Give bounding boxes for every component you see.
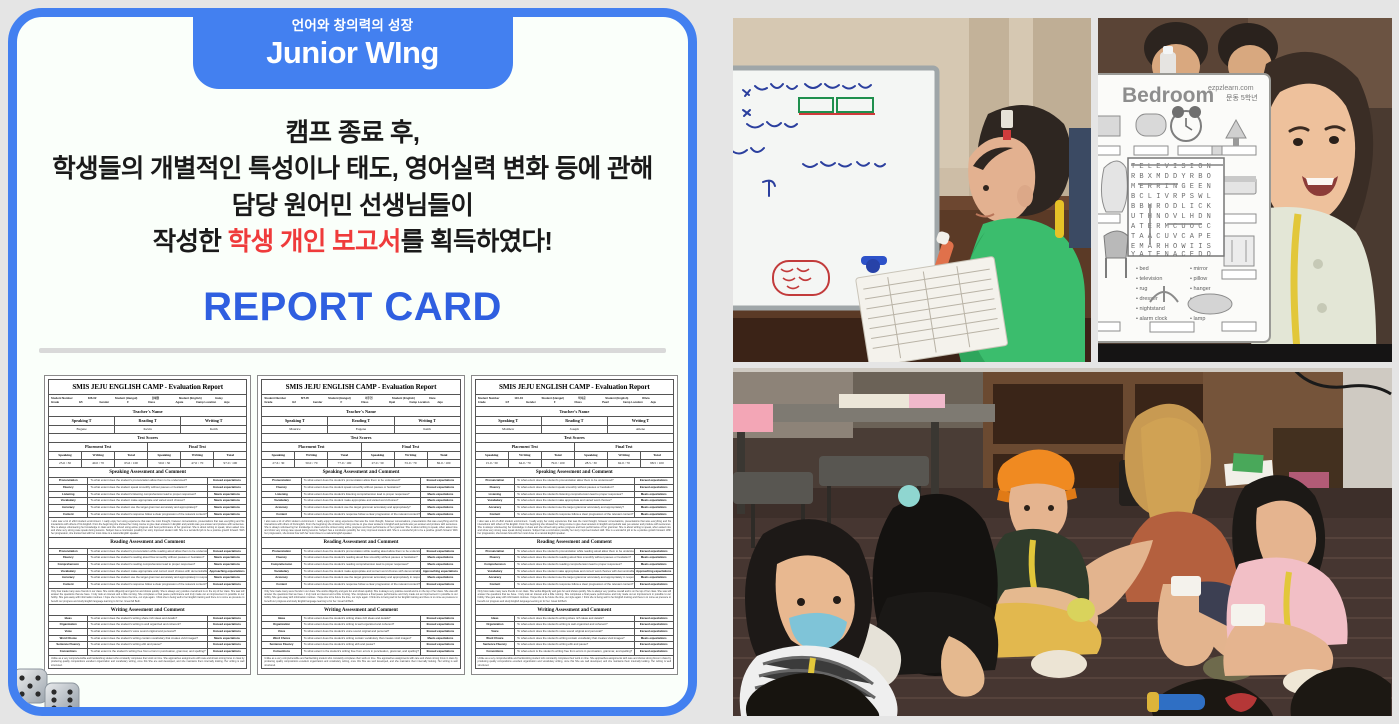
reading-assessment-question: To what extent does the student's readin… (302, 555, 420, 561)
speaking-assessment-row: PronunciationTo what extent does the stu… (261, 478, 460, 485)
score-header-cell: Speaking (575, 452, 608, 459)
score-value-cell: 55.0 / 70 (395, 460, 428, 467)
svg-text:U T H N O V L H D N: U T H N O V L H D N (1131, 213, 1211, 221)
score-header-cell: Writing (82, 452, 115, 459)
speaking-assessment-category: Listening (49, 492, 88, 498)
test-group-header-row: Placement TestFinal Test (261, 443, 460, 452)
speaking-assessment-category: Content (262, 512, 301, 518)
classroom-circle-photo (733, 368, 1392, 716)
writing-assessment-row: OrganizationTo what extent does the stud… (475, 622, 674, 629)
test-group-header-cell: Placement Test (49, 443, 148, 451)
writing-assessment-category: Word Choice (49, 636, 88, 642)
description-line-3: 담당 원어민 선생님들이 (17, 188, 688, 224)
teacher-header-cell: Reading T (115, 417, 181, 425)
score-header-cell: Total (641, 452, 673, 459)
svg-text:E M A R H O W I I S: E M A R H O W I I S (1131, 243, 1211, 251)
writing-assessment-question: To what extent does the student's writin… (515, 622, 633, 628)
speaking-assessment-result: Meets expectations (207, 512, 246, 518)
score-header-cell: Speaking (262, 452, 295, 459)
svg-text:• alarm clock: • alarm clock (1136, 316, 1168, 322)
speaking-assessment-question: To what extent does the student speak sm… (515, 485, 633, 491)
brand-banner: 언어와 창의력의 성장 Junior WIng (193, 8, 513, 89)
svg-text:• television: • television (1136, 276, 1162, 282)
teacher-header-cell: Reading T (328, 417, 394, 425)
speaking-assessment-category: Accuracy (262, 505, 301, 511)
speaking-assessment-question: To what extent does the student's listen… (515, 492, 633, 498)
reading-assessment-category: Comprehension (49, 562, 88, 568)
speaking-assessment-category: Vocabulary (476, 498, 515, 504)
writing-assessment-category: Voice (476, 629, 515, 635)
score-value-cell: 64.0 / 70 (509, 460, 542, 467)
teacher-value-row: MatthewJosephAilene (475, 426, 674, 434)
score-header-cell: Total (542, 452, 575, 459)
reading-assessment-question: To what extent does the student's respon… (515, 582, 633, 588)
speaking-assessment-question: To what extent does the student's listen… (88, 492, 206, 498)
svg-text:문동 5학년: 문동 5학년 (1226, 93, 1258, 102)
speaking-assessment-question: To what extent does the student's respon… (302, 512, 420, 518)
score-header-cell: Writing (395, 452, 428, 459)
teachers-name-band: Teacher's Name (261, 407, 460, 416)
speaking-assessment-question: To what extent does the student speak sm… (302, 485, 420, 491)
speaking-assessment-row: AccuracyTo what extent does the student … (475, 505, 674, 512)
speaking-assessment-question: To what extent does the student use the … (302, 505, 420, 511)
writing-assessment-question: To what extent does the student's writin… (515, 616, 633, 622)
writing-assessment-category: Ideas (49, 616, 88, 622)
speaking-assessment-result: Meets expectations (634, 512, 673, 518)
speaking-assessment-result: Meets expectations (420, 498, 459, 504)
score-value-cell: 98.5 / 100 (641, 460, 673, 467)
score-value-cell: 79.0 / 100 (542, 460, 575, 467)
reading-assessment-result: Exceed expectations (207, 582, 246, 588)
reading-assessment-row: ContentTo what extent does the student's… (475, 582, 674, 589)
speaking-assessment-category: Content (476, 512, 515, 518)
writing-assessment-row: OrganizationTo what extent does the stud… (48, 622, 247, 629)
writing-assessment-question: To what extent does the student's voice … (515, 629, 633, 635)
speaking-assessment-row: ContentTo what extent does the student's… (475, 512, 674, 519)
speaking-assessment-row: FluencyTo what extent does the student s… (261, 485, 460, 492)
teacher-value-row: MauriceEugeneKeith (261, 426, 460, 434)
speaking-assessment-result: Exceed expectations (634, 485, 673, 491)
speaking-assessment-question: To what extent does the student use the … (88, 505, 206, 511)
writing-assessment-result: Exceed expectations (207, 649, 246, 655)
score-header-cell: Writing (608, 452, 641, 459)
writing-assessment-question: To what extent is the student's writing … (302, 649, 420, 655)
speaking-assessment-question: To what extent does the student speak sm… (88, 485, 206, 491)
evaluation-report-sheet[interactable]: SMIS JEJU ENGLISH CAMP - Evaluation Repo… (44, 375, 251, 675)
reading-assessment-question: To what extent does the student make app… (302, 569, 420, 575)
reading-assessment-category: Fluency (49, 555, 88, 561)
test-scores-band: Test Scores (48, 434, 247, 443)
writing-assessment-question: To what extent does the student's writin… (302, 616, 420, 622)
speaking-assessment-row: ListeningTo what extent does the student… (48, 492, 247, 499)
writing-assessment-question: To what extent does the student's writin… (302, 642, 420, 648)
reading-assessment-row: ContentTo what extent does the student's… (48, 582, 247, 589)
speaking-assessment-category: Content (49, 512, 88, 518)
writing-assessment-category: Conventions (476, 649, 515, 655)
speaking-assessment-category: Accuracy (476, 505, 515, 511)
svg-text:• nightstand: • nightstand (1136, 306, 1165, 312)
writing-assessment-row: OrganizationTo what extent does the stud… (261, 622, 460, 629)
writing-assessment-row: ConventionsTo what extent is the student… (261, 649, 460, 656)
test-group-header-row: Placement TestFinal Test (475, 443, 674, 452)
speaking-assessment-band: Speaking Assessment and Comment (475, 468, 674, 478)
score-value-cell: 27.0 / 30 (362, 460, 395, 467)
writing-assessment-result: Exceed expectations (420, 616, 459, 622)
sheet-title: SMIS JEJU ENGLISH CAMP - Evaluation Repo… (48, 379, 247, 395)
speaking-assessment-result: Meets expectations (420, 512, 459, 518)
teacher-name-cell: Ailene (608, 426, 673, 433)
speaking-assessment-question: To what extent does the student make app… (302, 498, 420, 504)
speaking-assessment-result: Meets expectations (420, 492, 459, 498)
test-scores-band: Test Scores (475, 434, 674, 443)
writing-assessment-question: To what extent does the student's writin… (302, 622, 420, 628)
writing-assessment-band: Writing Assessment and Comment (261, 605, 460, 615)
sheet-title: SMIS JEJU ENGLISH CAMP - Evaluation Repo… (475, 379, 674, 395)
speaking-assessment-row: AccuracyTo what extent does the student … (261, 505, 460, 512)
svg-text:• lamp: • lamp (1190, 316, 1205, 322)
score-value-cell: 50.0 / 70 (295, 460, 328, 467)
writing-assessment-category: Conventions (49, 649, 88, 655)
reading-assessment-band: Reading Assessment and Comment (48, 538, 247, 548)
speaking-assessment-row: VocabularyTo what extent does the studen… (475, 498, 674, 505)
writing-assessment-result: Exceed expectations (634, 629, 673, 635)
teacher-name-cell: Maurice (262, 426, 328, 433)
reading-assessment-category: Vocabulary (49, 569, 88, 575)
speaking-assessment-result: Meets expectations (634, 498, 673, 504)
speaking-assessment-question: To what extent does the student's respon… (88, 512, 206, 518)
section-divider (39, 348, 666, 353)
writing-assessment-row: Word ChoiceTo what extent does the stude… (475, 636, 674, 643)
teacher-name-cell: Eugene (49, 426, 115, 433)
svg-text:Y A T E N A C E D O: Y A T E N A C E D O (1131, 251, 1211, 259)
page-title: REPORT CARD (17, 285, 688, 330)
reading-assessment-question: To what extent does the student's pronun… (88, 549, 206, 555)
writing-assessment-result: Exceed expectations (634, 649, 673, 655)
reading-assessment-question: To what extent does the student's readin… (302, 562, 420, 568)
whiteboard-lesson-photo (733, 18, 1091, 362)
reading-assessment-question: To what extent does the student's pronun… (515, 549, 633, 555)
score-header-cell: Total (214, 452, 246, 459)
speaking-assessment-result: Exceed expectations (634, 478, 673, 484)
reading-assessment-row: FluencyTo what extent does the student's… (475, 555, 674, 562)
writing-assessment-band: Writing Assessment and Comment (48, 605, 247, 615)
teacher-name-cell: Eugene (328, 426, 394, 433)
score-value-cell: 47.0 / 70 (181, 460, 214, 467)
description-line-4: 작성한 학생 개인 보고서를 획득하였다! (17, 224, 688, 260)
teacher-header-cell: Writing T (395, 417, 460, 425)
speaking-assessment-category: Listening (476, 492, 515, 498)
writing-assessment-result: Exceed expectations (207, 616, 246, 622)
svg-text:• bed: • bed (1136, 266, 1149, 272)
svg-text:T A A C U V C A P E: T A A C U V C A P E (1131, 233, 1211, 241)
score-header-row: SpeakingWritingTotalSpeakingWritingTotal (261, 452, 460, 460)
speaking-assessment-result: Exceed expectations (420, 485, 459, 491)
speaking-assessment-category: Fluency (262, 485, 301, 491)
reading-assessment-category: Vocabulary (476, 569, 515, 575)
writing-assessment-category: Voice (262, 629, 301, 635)
score-header-row: SpeakingWritingTotalSpeakingWritingTotal (48, 452, 247, 460)
score-value-cell: 82.0 / 100 (428, 460, 460, 467)
writing-assessment-category: Organization (49, 622, 88, 628)
test-group-header-cell: Placement Test (476, 443, 575, 451)
writing-assessment-category: Sentence Fluency (49, 642, 88, 648)
speaking-assessment-row: VocabularyTo what extent does the studen… (261, 498, 460, 505)
writing-assessment-row: IdeasTo what extent does the student's w… (475, 616, 674, 623)
speaking-assessment-row: FluencyTo what extent does the student s… (48, 485, 247, 492)
score-header-cell: Total (115, 452, 148, 459)
speaking-assessment-result: Exceed expectations (420, 478, 459, 484)
speaking-assessment-row: ListeningTo what extent does the student… (261, 492, 460, 499)
sheet-student-meta: Student Number336-02Student (Hangul)강채원S… (48, 395, 247, 408)
writing-assessment-row: VoiceTo what extent does the student's v… (475, 629, 674, 636)
writing-assessment-question: To what extent does the student's voice … (88, 629, 206, 635)
reading-assessment-result: Exceed expectations (634, 582, 673, 588)
score-value-cell: 15.0 / 30 (476, 460, 509, 467)
teacher-name-cell: Kevin (115, 426, 181, 433)
speaking-assessment-question: To what extent does the student use the … (515, 505, 633, 511)
score-value-row: 25.6 / 3040.0 / 7065.6 / 10050.0 / 3047.… (48, 460, 247, 468)
teacher-name-cell: Keith (181, 426, 246, 433)
reading-assessment-row: ComprehensionTo what extent does the stu… (261, 562, 460, 569)
reading-assessment-result: Meets expectations (207, 575, 246, 581)
writing-assessment-row: VoiceTo what extent does the student's v… (48, 629, 247, 636)
description-block: 캠프 종료 후, 학생들의 개별적인 특성이나 태도, 영어실력 변화 등에 관… (17, 115, 688, 261)
writing-assessment-question: To what extent is the student's writing … (515, 649, 633, 655)
teacher-header-cell: Speaking T (476, 417, 542, 425)
reading-assessment-row: ContentTo what extent does the student's… (261, 582, 460, 589)
writing-assessment-result: Exceed expectations (207, 642, 246, 648)
writing-assessment-category: Conventions (262, 649, 301, 655)
score-value-cell: 50.0 / 30 (148, 460, 181, 467)
reading-assessment-category: Content (262, 582, 301, 588)
teacher-header-cell: Writing T (181, 417, 246, 425)
reading-assessment-category: Pronunciation (262, 549, 301, 555)
speaking-assessment-category: Vocabulary (49, 498, 88, 504)
reading-assessment-result: Approaching expectations (207, 569, 246, 575)
score-value-cell: 28.5 / 30 (575, 460, 608, 467)
writing-assessment-row: Sentence FluencyTo what extent does the … (475, 642, 674, 649)
writing-assessment-question: To what extent does the student's voice … (302, 629, 420, 635)
speaking-assessment-result: Meets expectations (634, 492, 673, 498)
writing-assessment-band: Writing Assessment and Comment (475, 605, 674, 615)
teacher-header-cell: Speaking T (262, 417, 328, 425)
final-line-after: 를 획득하였다! (401, 228, 553, 256)
score-header-cell: Speaking (362, 452, 395, 459)
score-header-cell: Speaking (148, 452, 181, 459)
writing-assessment-row: VoiceTo what extent does the student's v… (261, 629, 460, 636)
svg-text:R B X M D D Y R B O: R B X M D D Y R B O (1131, 173, 1211, 181)
score-header-cell: Writing (509, 452, 542, 459)
speaking-assessment-row: FluencyTo what extent does the student s… (475, 485, 674, 492)
speaking-assessment-question: To what extent does the student's listen… (302, 492, 420, 498)
test-group-header-row: Placement TestFinal Test (48, 443, 247, 452)
speaking-assessment-row: VocabularyTo what extent does the studen… (48, 498, 247, 505)
writing-assessment-row: Word ChoiceTo what extent does the stude… (48, 636, 247, 643)
reading-assessment-question: To what extent does the student make app… (515, 569, 633, 575)
svg-text:B B H R O D L I C K: B B H R O D L I C K (1131, 203, 1212, 211)
writing-assessment-question: To what extent does the student's writin… (515, 642, 633, 648)
reading-assessment-category: Vocabulary (262, 569, 301, 575)
reading-assessment-row: AccuracyTo what extent does the student … (261, 575, 460, 582)
speaking-assessment-question: To what extent does the student's pronun… (515, 478, 633, 484)
writing-assessment-result: Exceed expectations (420, 622, 459, 628)
reading-assessment-comment: Only how made many were friends in our c… (48, 589, 247, 606)
svg-text:• rug: • rug (1136, 286, 1147, 292)
reading-assessment-result: Meets expectations (420, 555, 459, 561)
reading-assessment-row: AccuracyTo what extent does the student … (48, 575, 247, 582)
speaking-assessment-category: Pronunciation (262, 478, 301, 484)
speaking-assessment-row: ContentTo what extent does the student's… (48, 512, 247, 519)
speaking-assessment-row: ContentTo what extent does the student's… (261, 512, 460, 519)
reading-assessment-category: Pronunciation (49, 549, 88, 555)
reading-assessment-row: PronunciationTo what extent does the stu… (475, 549, 674, 556)
reading-assessment-row: ComprehensionTo what extent does the stu… (475, 562, 674, 569)
score-value-cell: 97.0 / 100 (214, 460, 246, 467)
reading-assessment-band: Reading Assessment and Comment (261, 538, 460, 548)
description-line-2: 학생들의 개별적인 특성이나 태도, 영어실력 변화 등에 관해 (17, 151, 688, 187)
teacher-header-cell: Speaking T (49, 417, 115, 425)
teacher-header-cell: Writing T (608, 417, 673, 425)
reading-assessment-row: FluencyTo what extent does the student's… (261, 555, 460, 562)
reading-assessment-band: Reading Assessment and Comment (475, 538, 674, 548)
reading-assessment-comment: Only how made many were friends in our c… (261, 589, 460, 606)
score-value-row: 15.0 / 3064.0 / 7079.0 / 10028.5 / 3062.… (475, 460, 674, 468)
writing-assessment-category: Organization (262, 622, 301, 628)
speaking-assessment-result: Meets expectations (420, 505, 459, 511)
svg-text:Bedroom: Bedroom (1122, 84, 1214, 107)
writing-assessment-result: Exceed expectations (634, 622, 673, 628)
speaking-assessment-category: Accuracy (49, 505, 88, 511)
brand-title: Junior WIng (193, 35, 513, 71)
svg-text:• hanger: • hanger (1190, 286, 1211, 292)
writing-assessment-result: Exceed expectations (634, 616, 673, 622)
speaking-assessment-row: AccuracyTo what extent does the student … (48, 505, 247, 512)
report-card-panel: 언어와 창의력의 성장 Junior WIng 캠프 종료 후, 학생들의 개별… (8, 8, 697, 716)
reading-assessment-result: Approaching expectations (420, 569, 459, 575)
score-value-cell: 27.6 / 30 (262, 460, 295, 467)
score-value-cell: 62.0 / 70 (608, 460, 641, 467)
writing-assessment-result: Exceed expectations (634, 642, 673, 648)
writing-assessment-result: Exceed expectations (207, 629, 246, 635)
reading-assessment-question: To what extent does the student's readin… (515, 562, 633, 568)
writing-assessment-category: Word Choice (476, 636, 515, 642)
sheet-student-meta: Student NumberMT-05Student (Hangul)이주현St… (261, 395, 460, 408)
reading-assessment-result: Approaching expectations (634, 569, 673, 575)
reading-assessment-result: Meets expectations (634, 555, 673, 561)
speaking-assessment-band: Speaking Assessment and Comment (48, 468, 247, 478)
test-group-header-cell: Placement Test (262, 443, 361, 451)
reading-assessment-question: To what extent does the student's readin… (88, 562, 206, 568)
writing-assessment-result: Exceed expectations (420, 642, 459, 648)
speaking-assessment-category: Fluency (476, 485, 515, 491)
teacher-header-cell: Reading T (542, 417, 608, 425)
final-line-highlight: 학생 개인 보고서 (228, 228, 401, 256)
reading-assessment-category: Accuracy (262, 575, 301, 581)
speaking-assessment-result: Meets expectations (207, 505, 246, 511)
writing-assessment-result: Exceed expectations (207, 622, 246, 628)
score-value-row: 27.6 / 3050.0 / 7077.0 / 10027.0 / 3055.… (261, 460, 460, 468)
svg-text:ezpzlearn.com: ezpzlearn.com (1208, 85, 1254, 92)
reading-assessment-result: Meets expectations (420, 562, 459, 568)
reading-assessment-row: ComprehensionTo what extent does the stu… (48, 562, 247, 569)
brand-subtitle: 언어와 창의력의 성장 (193, 19, 513, 34)
bedroom-worksheet-photo: Bedroom ezpzlearn.com 문동 5학년 (1098, 18, 1392, 362)
reading-assessment-result: Exceed expectations (420, 582, 459, 588)
writing-assessment-result: Meets expectations (420, 636, 459, 642)
speaking-assessment-comment: I also saw a lot of effort student envir… (475, 518, 674, 538)
evaluation-report-gallery: SMIS JEJU ENGLISH CAMP - Evaluation Repo… (44, 375, 678, 675)
writing-assessment-result: Meets expectations (207, 636, 246, 642)
speaking-assessment-result: Meets expectations (207, 498, 246, 504)
speaking-assessment-row: PronunciationTo what extent does the stu… (48, 478, 247, 485)
score-header-row: SpeakingWritingTotalSpeakingWritingTotal (475, 452, 674, 460)
score-value-cell: 65.6 / 100 (115, 460, 148, 467)
reading-assessment-result: Meets expectations (207, 555, 246, 561)
reading-assessment-question: To what extent does the student's readin… (515, 555, 633, 561)
reading-assessment-result: Meets expectations (634, 575, 673, 581)
sheet-title: SMIS JEJU ENGLISH CAMP - Evaluation Repo… (261, 379, 460, 395)
dice-decoration-icon (11, 663, 101, 716)
reading-assessment-result: Exceed expectations (420, 549, 459, 555)
writing-assessment-row: Sentence FluencyTo what extent does the … (48, 642, 247, 649)
writing-assessment-row: Word ChoiceTo what extent does the stude… (261, 636, 460, 643)
score-header-cell: Writing (295, 452, 328, 459)
speaking-assessment-result: Meets expectations (207, 492, 246, 498)
teacher-name-cell: Joseph (542, 426, 608, 433)
speaking-assessment-question: To what extent does the student make app… (515, 498, 633, 504)
reading-assessment-category: Content (49, 582, 88, 588)
writing-assessment-comment: Unlike as a very comprehensible and hard… (475, 656, 674, 670)
reading-assessment-category: Fluency (476, 555, 515, 561)
reading-assessment-question: To what extent does the student use the … (515, 575, 633, 581)
writing-assessment-category: Sentence Fluency (262, 642, 301, 648)
writing-assessment-result: Exceed expectations (420, 629, 459, 635)
reading-assessment-question: To what extent does the student's respon… (302, 582, 420, 588)
reading-assessment-category: Content (476, 582, 515, 588)
speaking-assessment-row: ListeningTo what extent does the student… (475, 492, 674, 499)
description-line-1: 캠프 종료 후, (17, 115, 688, 151)
teachers-name-band: Teacher's Name (48, 407, 247, 416)
test-group-header-cell: Final Test (362, 443, 460, 451)
speaking-assessment-comment: I also saw a lot of effort student envir… (261, 518, 460, 538)
final-line-before: 작성한 (153, 228, 228, 256)
writing-assessment-row: ConventionsTo what extent is the student… (48, 649, 247, 656)
speaking-assessment-category: Listening (262, 492, 301, 498)
test-group-header-cell: Final Test (575, 443, 673, 451)
teacher-header-row: Speaking TReading TWriting T (261, 417, 460, 426)
speaking-assessment-comment: I also saw a lot of effort student envir… (48, 518, 247, 538)
reading-assessment-row: VocabularyTo what extent does the studen… (261, 569, 460, 576)
reading-assessment-comment: Only how made many were friends in our c… (475, 589, 674, 606)
reading-assessment-row: PronunciationTo what extent does the stu… (48, 549, 247, 556)
writing-assessment-comment: Unlike as a very comprehensible and hard… (261, 656, 460, 670)
writing-assessment-question: To what extent does the student's writin… (88, 642, 206, 648)
reading-assessment-row: PronunciationTo what extent does the stu… (261, 549, 460, 556)
reading-assessment-result: Meets expectations (420, 575, 459, 581)
evaluation-report-sheet[interactable]: SMIS JEJU ENGLISH CAMP - Evaluation Repo… (257, 375, 464, 675)
reading-assessment-row: VocabularyTo what extent does the studen… (48, 569, 247, 576)
speaking-assessment-result: Exceed expectations (207, 478, 246, 484)
speaking-assessment-result: Meets expectations (634, 505, 673, 511)
svg-text:B C L I V R P S W L: B C L I V R P S W L (1131, 193, 1211, 201)
reading-assessment-category: Fluency (262, 555, 301, 561)
reading-assessment-result: Meets expectations (207, 562, 246, 568)
score-header-cell: Speaking (476, 452, 509, 459)
teacher-value-row: EugeneKevinKeith (48, 426, 247, 434)
writing-assessment-question: To what extent does the student's writin… (88, 616, 206, 622)
reading-assessment-row: FluencyTo what extent does the student's… (48, 555, 247, 562)
evaluation-report-sheet[interactable]: SMIS JEJU ENGLISH CAMP - Evaluation Repo… (471, 375, 678, 675)
